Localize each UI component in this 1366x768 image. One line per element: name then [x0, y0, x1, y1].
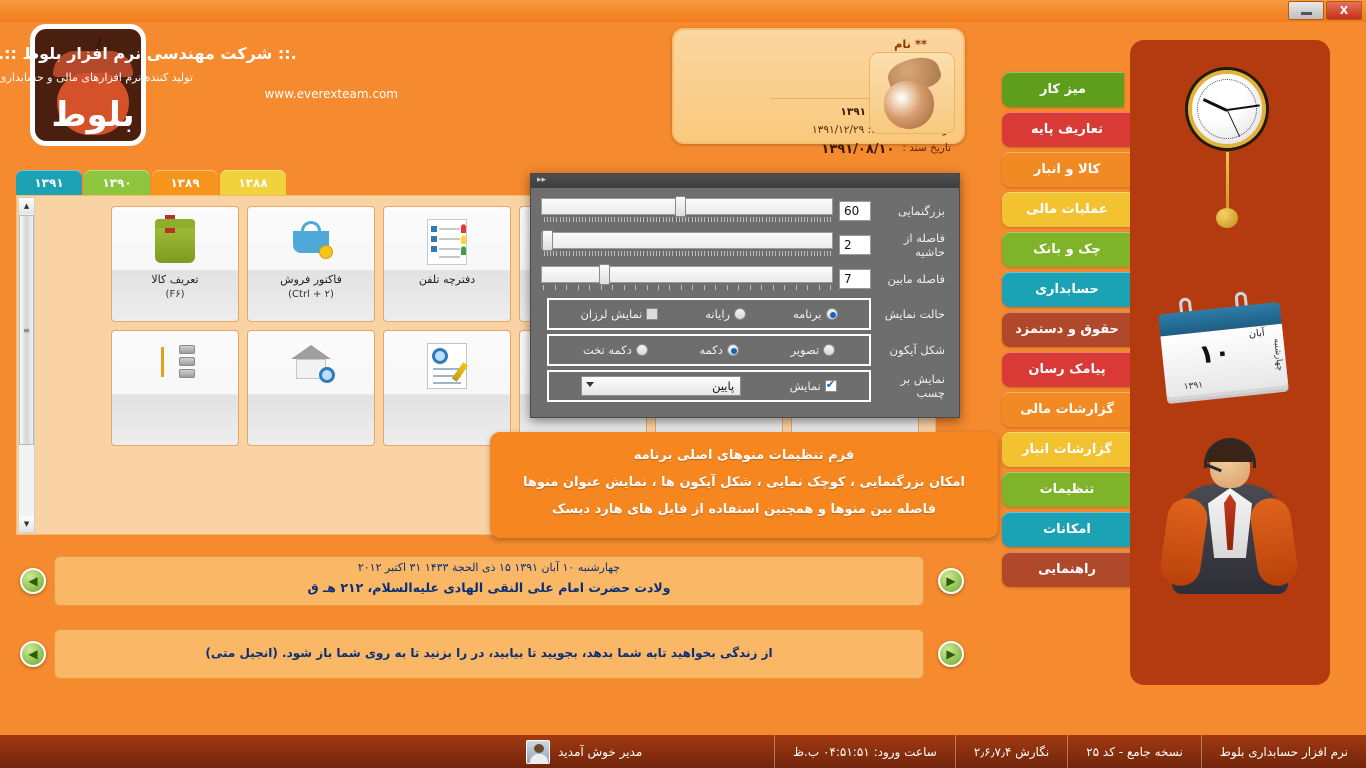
label-display-group: نمایش پایین — [547, 370, 871, 402]
icon-label: فاکتور فروش (Ctrl + ۲) — [280, 273, 342, 302]
tab-year-1391[interactable]: ۱۳۹۱ — [16, 170, 82, 195]
acorn-photo-icon — [869, 52, 955, 134]
menu-item-dashboard[interactable]: میز کار — [1002, 72, 1124, 107]
dialog-body: بزرگنمایی 60 فاصله از حاشیه 2 فاصله — [531, 188, 959, 412]
margin-setting-row: فاصله از حاشیه 2 — [541, 230, 949, 260]
zoom-slider-track[interactable] — [541, 198, 833, 215]
radio-icon[interactable] — [636, 344, 648, 356]
status-welcome-text: مدیر خوش آمدید — [558, 745, 642, 759]
calendar-day: ۱۰ — [1197, 337, 1232, 370]
quote-prev-button[interactable]: ◀ — [20, 641, 46, 667]
checkbox-icon[interactable] — [825, 380, 837, 392]
menu-item-accounting[interactable]: حسابداری — [1002, 272, 1132, 307]
window-titlebar: X — [0, 0, 1366, 22]
tooltip-line-3: فاصله بین منوها و همچنین استفاده از فایل… — [506, 496, 982, 523]
document-search-icon — [423, 343, 471, 391]
margin-value-input[interactable]: 2 — [839, 235, 871, 255]
window-controls: X — [1288, 1, 1362, 20]
analog-clock-icon — [1188, 70, 1266, 148]
menu-item-base-definitions[interactable]: تعاریف پایه — [1002, 112, 1132, 147]
icon-label: تعریف کالا (F۶) — [151, 273, 198, 302]
calendar-sheet: آبان ۱۰ ۱۳۹۱ چهارشنبه — [1160, 324, 1288, 398]
spacing-slider-track[interactable] — [541, 266, 833, 283]
margin-slider-thumb[interactable] — [542, 230, 553, 251]
calendar-month: آبان — [1248, 328, 1265, 341]
document-date-value: ۱۳۹۱/۰۸/۱۰ — [821, 142, 894, 157]
headset-icon — [1204, 438, 1256, 468]
radio-icon[interactable] — [826, 308, 838, 320]
status-bar: نرم افزار حسابداری بلوط نسخه جامع - کد ۲… — [0, 735, 1366, 768]
status-edition: نسخه جامع - کد ۲۵ — [1067, 735, 1201, 768]
calendar-year: ۱۳۹۱ — [1183, 380, 1203, 392]
document-date-label: تاریخ سند : — [902, 142, 951, 157]
occasion-next-button[interactable]: ▶ — [938, 568, 964, 594]
tooltip-line-2: امکان بزرگنمایی ، کوچک نمایی ، شکل آیکون… — [506, 469, 982, 496]
tab-year-1389[interactable]: ۱۳۸۹ — [152, 170, 218, 195]
icon-shape-option-button[interactable]: دکمه — [699, 343, 738, 357]
icon-shape-label: شکل آیکون — [871, 343, 949, 357]
spacing-setting-row: فاصله مابین 7 — [541, 264, 949, 294]
margin-slider[interactable] — [541, 230, 833, 260]
icon-cell-tree-chart[interactable] — [111, 330, 239, 446]
company-subtitle: تولید کننده نرم افزارهای مالی و حسابداری — [0, 71, 398, 84]
radio-icon[interactable] — [734, 308, 746, 320]
icon-shape-option-image[interactable]: تصویر — [791, 343, 836, 357]
option-label: دکمه — [699, 343, 722, 357]
menu-item-features[interactable]: امکانات — [1002, 512, 1132, 547]
main-navigation-menu: میز کار تعاریف پایه کالا و انبار عملیات … — [1002, 72, 1132, 592]
occasion-date: چهارشنبه ۱۰ آبان ۱۳۹۱ ۱۵ ذی الحجة ۱۴۳۳ ۳… — [55, 557, 923, 574]
occasion-text: ولادت حضرت امام علی النقی الهادی علیه‌ال… — [55, 574, 923, 595]
label-position-select[interactable]: پایین — [581, 376, 741, 396]
organization-info-card: ** نام موسسه/فروشگاه شما ** سال مالی جار… — [672, 28, 965, 144]
margin-slider-track[interactable] — [541, 232, 833, 249]
radio-icon[interactable] — [727, 344, 739, 356]
dialog-titlebar[interactable]: ▸▸ — [531, 174, 959, 188]
icon-cell-goods-definition[interactable]: تعریف کالا (F۶) — [111, 206, 239, 322]
icon-shortcut: (F۶) — [166, 289, 185, 300]
calendar-widget: آبان ۱۰ ۱۳۹۱ چهارشنبه — [1157, 294, 1288, 402]
pendulum-bob — [1216, 208, 1238, 228]
menu-item-help[interactable]: راهنمایی — [1002, 552, 1132, 587]
option-label: نمایش — [790, 379, 821, 393]
house-search-icon — [287, 343, 335, 391]
zoom-slider-ticks — [543, 217, 831, 224]
icon-shape-option-flat-button[interactable]: دکمه تخت — [583, 343, 648, 357]
company-title: .:: شرکت مهندسی نرم افزار بلوط ::. — [0, 44, 398, 63]
margin-slider-ticks — [543, 251, 831, 258]
label-display-label: نمایش بر چسب — [871, 372, 949, 400]
spacing-value-input[interactable]: 7 — [839, 269, 871, 289]
user-avatar[interactable] — [526, 740, 550, 764]
menu-item-goods-warehouse[interactable]: کالا و انبار — [1002, 152, 1132, 187]
radio-icon[interactable] — [823, 344, 835, 356]
display-mode-row: حالت نمایش برنامه رایانه نمایش لرزان — [541, 298, 949, 330]
brand-block: .:: شرکت مهندسی نرم افزار بلوط ::. تولید… — [0, 44, 398, 101]
quote-text: از زندگی بخواهید تابه شما بدهد، بجویید ت… — [55, 630, 923, 660]
spacing-slider[interactable] — [541, 264, 833, 294]
zoom-label: بزرگنمایی — [871, 204, 949, 218]
option-label: برنامه — [793, 307, 822, 321]
menu-item-warehouse-reports[interactable]: گزارشات انبار — [1002, 432, 1132, 467]
tab-year-1390[interactable]: ۱۳۹۰ — [84, 170, 150, 195]
label-position-value: پایین — [712, 379, 734, 393]
widgets-panel: آبان ۱۰ ۱۳۹۱ چهارشنبه — [1130, 40, 1330, 685]
margin-label: فاصله از حاشیه — [871, 231, 949, 259]
display-mode-option-computer[interactable]: رایانه — [705, 307, 746, 321]
icon-panel-scrollbar[interactable]: ▲ ≡ ▼ — [18, 197, 35, 533]
icon-shortcut: (Ctrl + ۲) — [288, 289, 334, 300]
icon-cell-document-search[interactable] — [383, 330, 511, 446]
company-website: www.everexteam.com — [0, 87, 398, 101]
status-login-time: ساعت ورود: ۰۴:۵۱:۵۱ ب.ظ — [774, 735, 955, 768]
help-tooltip: فرم تنظیمات منوهای اصلی برنامه امکان بزر… — [490, 432, 998, 538]
zoom-slider[interactable] — [541, 196, 833, 226]
icon-label-line1: تعریف کالا — [151, 273, 198, 286]
icon-shape-row: شکل آیکون تصویر دکمه دکمه تخت — [541, 334, 949, 366]
tooltip-line-1: فرم تنظیمات منوهای اصلی برنامه — [506, 442, 982, 469]
menu-item-payroll[interactable]: حقوق و دستمزد — [1002, 312, 1132, 347]
tab-year-1388[interactable]: ۱۳۸۸ — [220, 170, 286, 195]
scroll-down-arrow-icon[interactable]: ▼ — [19, 516, 34, 532]
checkbox-icon[interactable] — [646, 308, 658, 320]
option-label: تصویر — [791, 343, 820, 357]
option-label: رایانه — [705, 307, 730, 321]
icon-label: دفترچه تلفن — [419, 273, 475, 287]
scroll-up-arrow-icon[interactable]: ▲ — [19, 198, 34, 214]
menu-item-sms-messenger[interactable]: پیامک رسان — [1002, 352, 1132, 387]
close-button[interactable]: X — [1326, 1, 1362, 20]
menu-item-financial-reports[interactable]: گزارشات مالی — [1002, 392, 1132, 427]
fiscal-year-tabs: ۱۳۹۱ ۱۳۹۰ ۱۳۸۹ ۱۳۸۸ — [16, 170, 288, 195]
tree-chart-icon — [151, 343, 199, 391]
occasion-ticker: چهارشنبه ۱۰ آبان ۱۳۹۱ ۱۵ ذی الحجة ۱۴۳۳ ۳… — [54, 556, 924, 606]
option-label: دکمه تخت — [583, 343, 632, 357]
quote-ticker: از زندگی بخواهید تابه شما بدهد، بجویید ت… — [54, 629, 924, 679]
icon-cell-sales-invoice[interactable]: فاکتور فروش (Ctrl + ۲) — [247, 206, 375, 322]
zoom-value-input[interactable]: 60 — [839, 201, 871, 221]
sales-invoice-icon — [287, 219, 335, 267]
status-app-name: نرم افزار حسابداری بلوط — [1201, 735, 1366, 768]
display-mode-option-shake[interactable]: نمایش لرزان — [580, 307, 658, 321]
phonebook-icon — [423, 219, 471, 267]
icon-label-line1: فاکتور فروش — [280, 273, 342, 286]
document-date-row: تاریخ سند : ۱۳۹۱/۰۸/۱۰ — [774, 139, 951, 160]
pendulum-rod — [1226, 152, 1229, 214]
status-user-area: مدیر خوش آمدید — [0, 735, 774, 768]
chevron-down-icon[interactable] — [586, 382, 594, 387]
application-window: X بلوط .:: شرکت مهندسی نرم افزار بلوط ::… — [0, 0, 1366, 768]
menu-item-check-bank[interactable]: چک و بانک — [1002, 232, 1132, 267]
quote-next-button[interactable]: ▶ — [938, 641, 964, 667]
spacing-slider-thumb[interactable] — [599, 264, 610, 285]
scrollbar-thumb[interactable]: ≡ — [19, 215, 34, 445]
icon-cell-phonebook[interactable]: دفترچه تلفن — [383, 206, 511, 322]
icon-cell-house-search[interactable] — [247, 330, 375, 446]
label-display-row: نمایش بر چسب نمایش پایین — [541, 370, 949, 402]
zoom-setting-row: بزرگنمایی 60 — [541, 196, 949, 226]
calendar-weekday: چهارشنبه — [1271, 338, 1284, 372]
goods-definition-icon — [151, 219, 199, 267]
option-label: نمایش لرزان — [580, 307, 642, 321]
spacing-label: فاصله مابین — [871, 272, 949, 286]
occasion-prev-button[interactable]: ◀ — [20, 568, 46, 594]
zoom-slider-thumb[interactable] — [675, 196, 686, 217]
fiscal-year-value: ۱۳۹۱ — [840, 106, 866, 118]
display-mode-label: حالت نمایش — [871, 307, 949, 321]
menu-item-financial-operations[interactable]: عملیات مالی — [1002, 192, 1132, 227]
menu-settings-dialog: ▸▸ بزرگنمایی 60 فاصله از حاشیه 2 — [530, 173, 960, 418]
status-version: نگارش ۲٫۶٫۷٫۴ — [955, 735, 1067, 768]
icon-shape-group: تصویر دکمه دکمه تخت — [547, 334, 871, 366]
label-display-checkbox-option[interactable]: نمایش — [790, 379, 837, 393]
pin-icon[interactable]: ▸▸ — [537, 175, 546, 185]
spacing-slider-ticks — [543, 285, 831, 292]
display-mode-group: برنامه رایانه نمایش لرزان — [547, 298, 871, 330]
menu-item-settings[interactable]: تنظیمات — [1002, 472, 1132, 507]
acorn-photo-body — [884, 81, 934, 129]
minimize-button[interactable] — [1288, 1, 1324, 20]
support-operator-avatar — [1148, 440, 1308, 625]
display-mode-option-app[interactable]: برنامه — [793, 307, 838, 321]
